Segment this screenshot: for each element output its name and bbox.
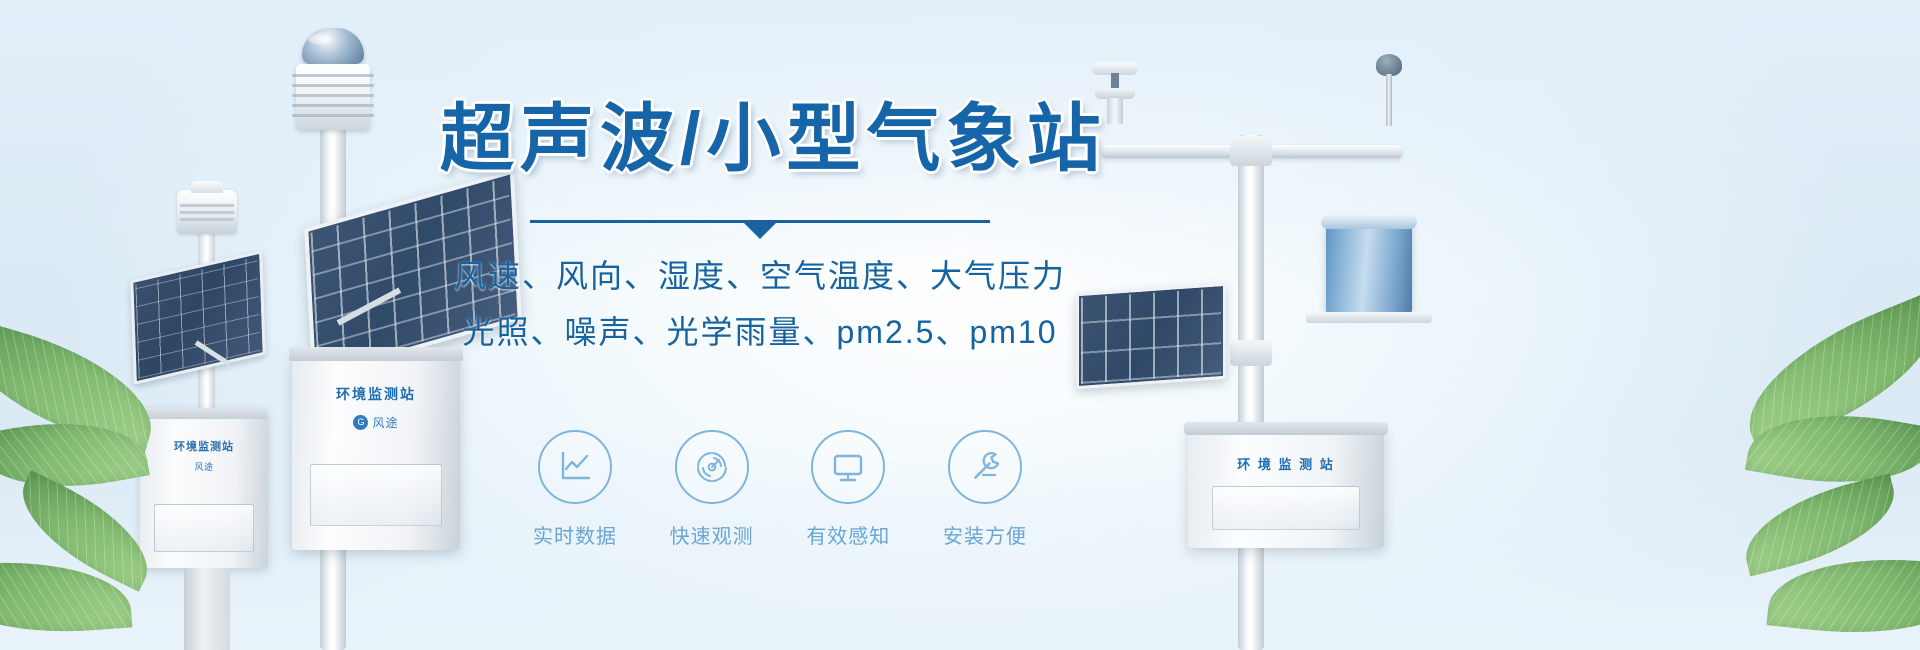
subtitle-line-2: 光照、噪声、光学雨量、pm2.5、pm10 <box>440 308 1080 358</box>
cabinet-label: 环境监测站 <box>140 438 268 454</box>
radiation-shield <box>296 64 370 130</box>
equipment-cabinet: 环 境 监 测 站 <box>1188 428 1384 548</box>
cabinet-top-cap <box>140 408 268 419</box>
right-weather-station: 环 境 监 测 站 <box>1060 40 1480 650</box>
feature-icon-circle <box>948 430 1022 504</box>
mast-collar-lower <box>1230 340 1272 366</box>
radar-sensor-icon <box>692 447 732 487</box>
feature-icon-circle <box>538 430 612 504</box>
mast <box>1238 135 1264 650</box>
instrument-shelf <box>1306 312 1432 323</box>
rain-gauge-icon <box>1326 222 1412 314</box>
wrench-icon <box>965 447 1005 487</box>
cabinet-brand: 风途 <box>140 460 268 473</box>
feature-label: 安装方便 <box>930 520 1040 549</box>
solar-panel <box>130 250 266 384</box>
feature-item-effective-sensing[interactable]: 有效感知 <box>793 430 903 549</box>
cabinet-door <box>154 504 254 552</box>
banner-text-block: 超声波/小型气象站 风速、风向、湿度、空气温度、大气压力 光照、噪声、光学雨量、… <box>440 100 1080 358</box>
feature-list: 实时数据 快速观测 <box>520 430 1040 549</box>
brand-name: 风途 <box>372 414 398 431</box>
title-divider <box>530 216 990 230</box>
solar-panel <box>1076 283 1226 389</box>
cabinet-label: 环境监测站 <box>292 384 460 404</box>
subtitle-line-1: 风速、风向、湿度、空气温度、大气压力 <box>440 252 1080 302</box>
feature-label: 实时数据 <box>520 520 630 549</box>
cabinet-top-cap <box>289 347 463 361</box>
feature-item-fast-observation[interactable]: 快速观测 <box>657 430 767 549</box>
feature-icon-circle <box>811 430 885 504</box>
cabinet-label: 环 境 监 测 站 <box>1188 454 1384 473</box>
total-radiation-dome-icon <box>302 28 364 64</box>
equipment-cabinet: 环境监测站 G 风途 <box>292 352 460 550</box>
feature-label: 有效感知 <box>793 520 903 549</box>
divider-triangle-icon <box>744 223 776 239</box>
cabinet-door <box>310 464 442 526</box>
brand-logo-icon: G <box>353 415 368 430</box>
wind-vane-icon <box>1372 54 1406 124</box>
mast-collar-upper <box>1230 136 1272 166</box>
feature-item-easy-installation[interactable]: 安装方便 <box>930 430 1040 549</box>
product-banner: 环境监测站 风途 环境监测站 G 风途 <box>0 0 1920 650</box>
mast-base <box>184 568 230 650</box>
feature-label: 快速观测 <box>657 520 767 549</box>
cabinet-door <box>1212 486 1360 530</box>
page-title: 超声波/小型气象站 <box>440 100 1080 178</box>
monitor-icon <box>828 447 868 487</box>
radiation-shield-sensor-icon <box>177 190 237 234</box>
equipment-cabinet: 环境监测站 风途 <box>140 408 268 568</box>
cabinet-top-cap <box>1184 422 1388 435</box>
feature-icon-circle <box>675 430 749 504</box>
line-chart-icon <box>555 447 595 487</box>
cabinet-brand-row: G 风途 <box>292 414 460 431</box>
feature-item-realtime-data[interactable]: 实时数据 <box>520 430 630 549</box>
